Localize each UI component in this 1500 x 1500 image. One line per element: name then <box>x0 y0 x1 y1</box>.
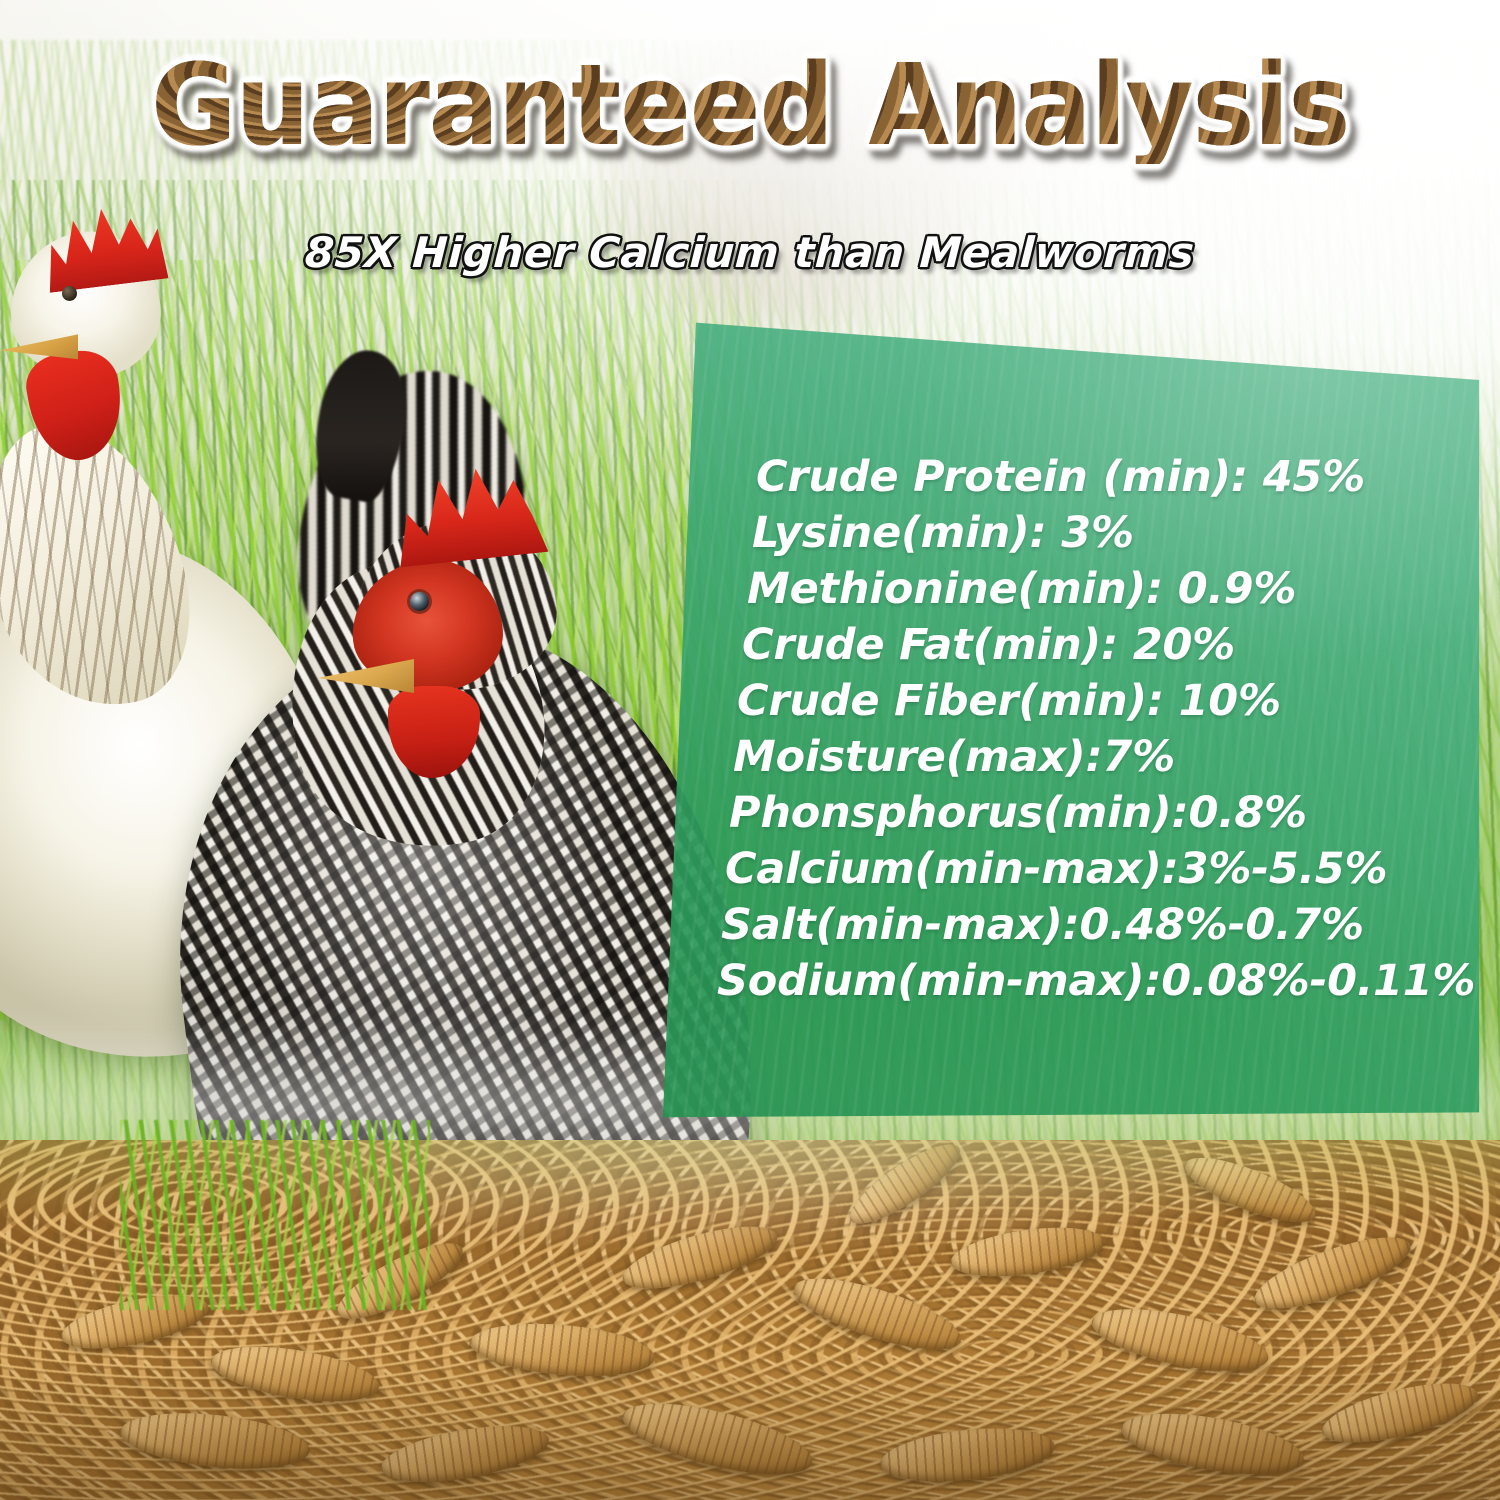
guaranteed-analysis-panel <box>655 312 1490 1132</box>
larva <box>1317 1371 1483 1454</box>
larva <box>468 1317 657 1383</box>
larva <box>948 1219 1108 1284</box>
larva <box>617 1214 783 1301</box>
larva <box>616 1389 818 1489</box>
foreground-grass-clump <box>120 1120 430 1310</box>
product-infographic: Guaranteed Analysis 85X Higher Calcium t… <box>0 0 1500 1500</box>
larva <box>1247 1223 1418 1323</box>
larva <box>878 1421 1057 1489</box>
white-hen-eye <box>62 286 77 301</box>
larva <box>1117 1402 1308 1485</box>
barred-hen-eye <box>410 592 429 611</box>
panel-sheen <box>655 312 1490 1132</box>
larva <box>840 1140 969 1236</box>
larva <box>118 1405 312 1477</box>
larva <box>377 1416 553 1493</box>
larva <box>1087 1297 1273 1383</box>
larva <box>787 1264 968 1364</box>
larva <box>207 1337 382 1411</box>
larva <box>1178 1145 1323 1235</box>
